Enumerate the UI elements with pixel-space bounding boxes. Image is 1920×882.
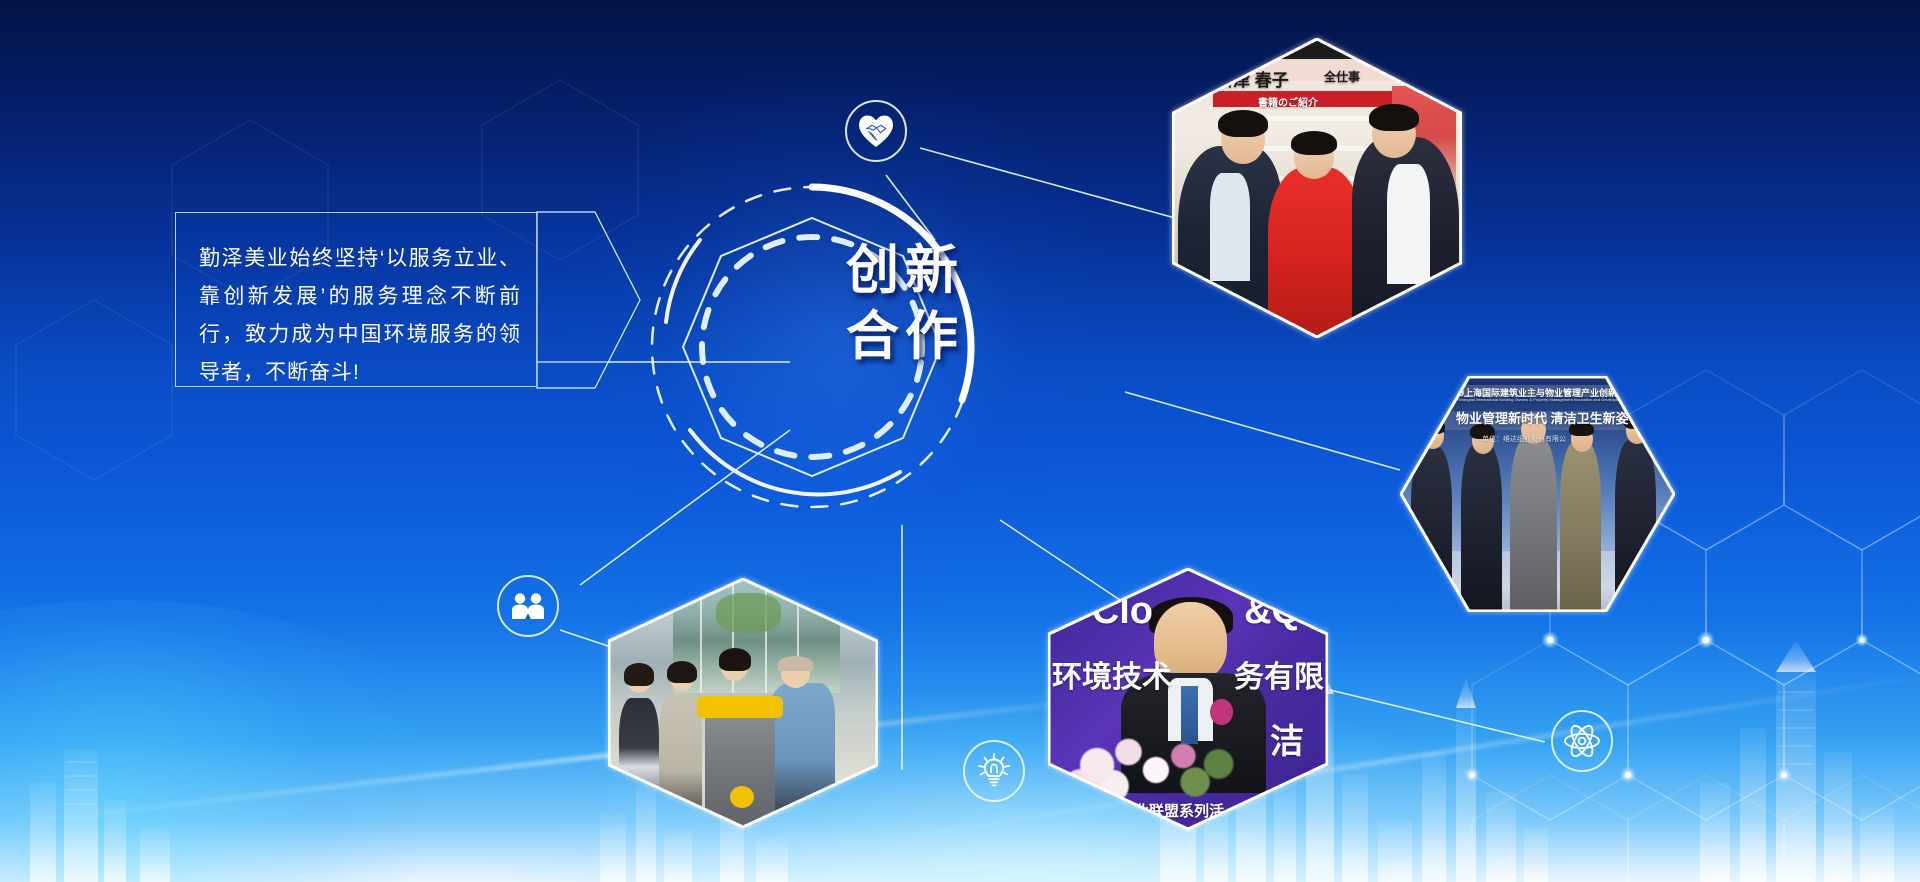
- people-badge[interactable]: [497, 575, 559, 637]
- atom-icon: [1563, 722, 1601, 760]
- photo-conference-group-border: [1400, 376, 1675, 612]
- hub-title-line2: 合作: [815, 304, 995, 370]
- photo-equipment-demo-border: [608, 578, 878, 828]
- hub-title: 创新 合作: [815, 238, 995, 370]
- people-icon: [511, 592, 545, 620]
- photo-speaker-podium-border: [1048, 568, 1328, 830]
- hub-title-line1: 创新: [815, 238, 995, 304]
- photo-conference-group[interactable]: 2019上海国际建筑业主与物业管理产业创新发 2019 Shanghai Int…: [1400, 376, 1675, 612]
- atom-badge[interactable]: [1551, 710, 1613, 772]
- photo-equipment-demo[interactable]: [608, 578, 878, 828]
- photo-japan-visit-border: [1172, 38, 1462, 338]
- lightbulb-badge[interactable]: [963, 740, 1025, 802]
- handshake-heart-icon: [858, 114, 894, 148]
- banner-stage: 勤泽美业始终坚持‘以服务立业、靠创新发展’的服务理念不断前行，致力成为中国环境服…: [0, 0, 1920, 882]
- handshake-heart-badge[interactable]: [845, 100, 907, 162]
- lightbulb-icon: [977, 753, 1011, 789]
- photo-speaker-podium[interactable]: e-Clo &Q2 环境技术 务有限 洁 服务业联盟系列活: [1048, 568, 1328, 830]
- photo-japan-visit[interactable]: 新津 春子 全仕事 書籍のご紹介: [1172, 38, 1462, 338]
